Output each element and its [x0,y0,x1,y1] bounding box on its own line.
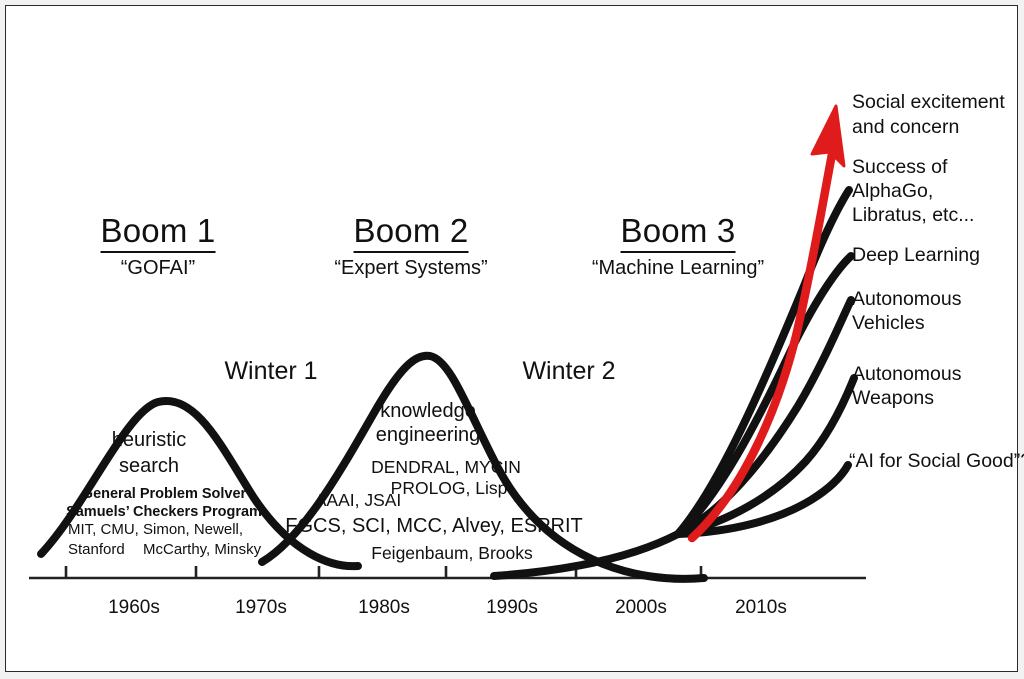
axis-label-1980s: 1980s [358,597,410,618]
annotation-alphago-line2: AlphaGo, [852,180,933,203]
annotation-alphago-line1: Success of [852,156,947,179]
boom2-systems-line2: PROLOG, Lisp [391,477,508,500]
axis-label-2000s: 2000s [615,597,667,618]
annotation-autonomous-vehicles-line2: Vehicles [852,312,925,335]
axis-label-1960s: 1960s [108,597,160,618]
boom-2-subtitle: “Expert Systems” [334,257,487,279]
boom2-headline-line1: knowledge [380,400,476,422]
annotation-social-excitement-line2: and concern [852,116,959,139]
boom2-people: Feigenbaum, Brooks [371,542,532,565]
boom-1-title: Boom 1 [101,213,216,253]
winter-2-label: Winter 2 [522,357,615,385]
boom2-headline-line2: engineering [376,424,481,446]
boom2-systems-line1: DENDRAL, MYCIN [371,456,521,479]
axis-label-1990s: 1990s [486,597,538,618]
axis-group [29,566,866,578]
boom1-people-line1: Simon, Newell, [143,521,243,540]
annotation-social-excitement-line1: Social excitement [852,91,1005,114]
boom1-headline-line1: heuristic [112,429,186,452]
boom-2-title: Boom 2 [354,213,469,253]
boom1-bold-line2: Samuels’ Checkers Program [66,503,262,521]
annotation-autonomous-weapons-line1: Autonomous [852,363,962,386]
figure-page: Boom 1 “GOFAI” Boom 2 “Expert Systems” B… [0,0,1024,679]
figure-frame: Boom 1 “GOFAI” Boom 2 “Expert Systems” B… [5,5,1018,672]
axis-label-1970s: 1970s [235,597,287,618]
boom1-institutions-line1: MIT, CMU, [68,521,139,540]
boom1-people-line2: McCarthy, Minsky [143,541,261,560]
annotation-alphago-line3: Libratus, etc... [852,204,974,227]
boom-1-subtitle: “GOFAI” [121,257,195,279]
axis-label-2010s: 2010s [735,597,787,618]
boom1-institutions-line2: Stanford [68,541,125,560]
annotation-autonomous-weapons-line2: Weapons [852,387,934,410]
boom2-organizations: AAAI, JSAI [315,489,402,512]
winter-1-label: Winter 1 [224,357,317,385]
boom2-programs: FGCS, SCI, MCC, Alvey, ESPRIT [285,515,582,537]
boom-3-title: Boom 3 [621,213,736,253]
annotation-ai-social-good: “AI for Social Good”? [849,450,1024,473]
annotation-deep-learning: Deep Learning [852,244,980,267]
boom1-bold-line1: General Problem Solver [82,485,246,503]
boom-3-subtitle: “Machine Learning” [592,257,764,279]
boom1-headline-line2: search [119,455,179,478]
annotation-autonomous-vehicles-line1: Autonomous [852,288,962,311]
